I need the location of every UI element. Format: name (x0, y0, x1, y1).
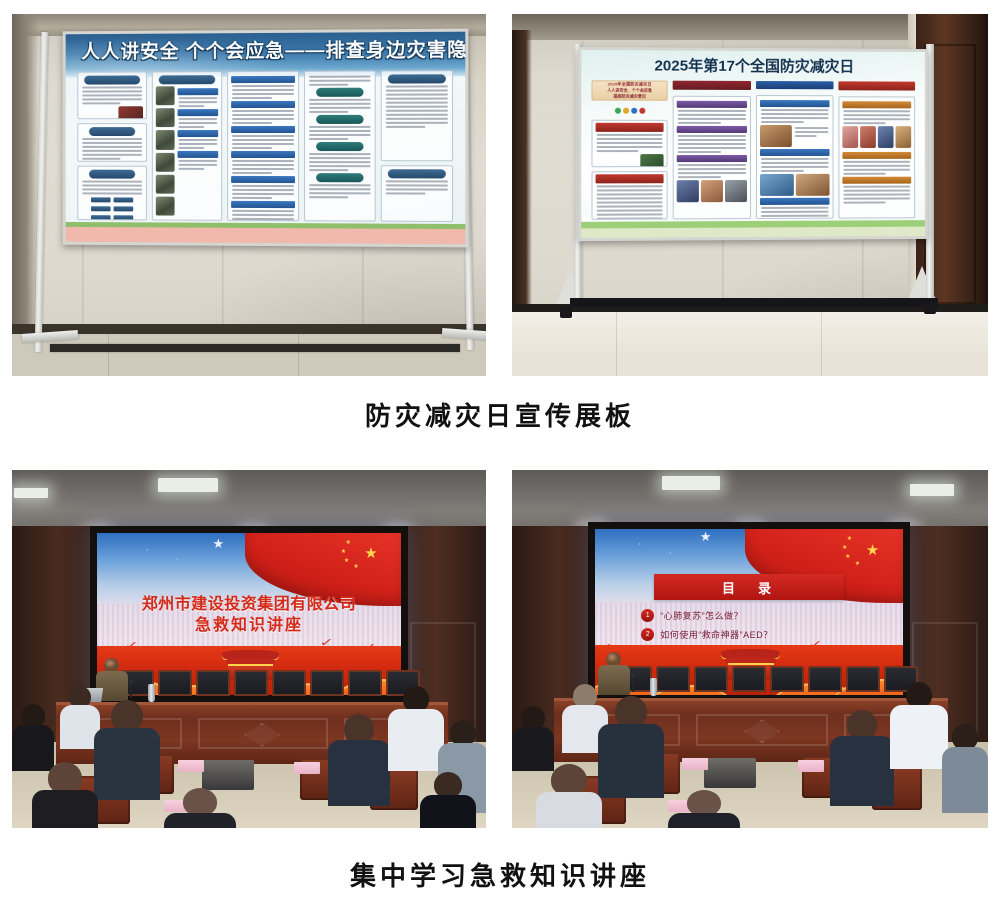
board-panel (77, 123, 147, 162)
conference-room: ★ · · · · ★ ★★★★ 郑州市建设投资集团有限公司 急救知识讲座 ✓ (12, 470, 486, 828)
desk-nameplate (798, 760, 824, 772)
slide-title-block: 郑州市建设投资集团有限公司 急救知识讲座 (109, 595, 389, 636)
photo-lecture-title-slide: ★ · · · · ★ ★★★★ 郑州市建设投资集团有限公司 急救知识讲座 ✓ (12, 470, 486, 828)
board-bottom-decoration (581, 220, 925, 238)
contents-heading-banner: 目 录 (654, 574, 845, 601)
stage-chair (348, 670, 382, 696)
stage-chair (310, 670, 344, 696)
contents-heading: 目 录 (722, 578, 776, 597)
board-panel (381, 165, 454, 222)
wall-pillar (12, 14, 38, 376)
stage-chair (694, 666, 728, 692)
board-panel (152, 71, 222, 221)
audience-member (420, 772, 476, 828)
audience-member (12, 704, 54, 766)
audience-member (598, 696, 664, 794)
board-bottom-decoration (66, 222, 466, 244)
audience-member (830, 710, 894, 802)
stage-chair (732, 666, 766, 692)
audience-member (890, 682, 948, 766)
desk-nameplate (178, 760, 204, 772)
stand-bottom-bar (570, 298, 938, 307)
board-panel (304, 71, 376, 222)
column-header-3 (838, 81, 915, 90)
document-page: 人人讲安全 个个会应急——排查身边灾害隐患 (0, 0, 1000, 912)
audience-member (94, 700, 160, 796)
corridor-shadow (512, 30, 532, 350)
board-2-title: 2025年第17个全国防灾减灾日 (616, 55, 891, 78)
castor-wheel-left (560, 306, 572, 318)
board-1-title: 人人讲安全 个个会应急——排查身边灾害隐患 (81, 36, 449, 68)
stage-chair (846, 666, 880, 692)
figure-1-caption: 防灾减灾日宣传展板 (0, 396, 1000, 433)
board-side-banner: 2025年全国防灾减灾日 人人讲安全、个个会应急 提高防灾减灾意识 (592, 80, 667, 100)
board-panel (228, 71, 299, 221)
audience-member (536, 764, 602, 828)
ceiling-light-panel (910, 484, 954, 496)
photo-display-board-corridor: 2025年第17个全国防灾减灾日 2025年全国防灾减灾日 人人讲安全、个个会应… (512, 14, 988, 376)
board-panel (592, 120, 667, 167)
board-panel (77, 71, 147, 119)
stage-chair (158, 670, 192, 696)
audience-member (328, 714, 390, 802)
audience-member (32, 762, 98, 828)
audience-member (164, 788, 236, 828)
desk-nameplate (682, 758, 708, 770)
board-panel (672, 96, 750, 220)
board-column (756, 81, 833, 219)
board-column (152, 71, 222, 221)
stand-bottom-brace (50, 344, 460, 352)
board-panel (381, 70, 454, 161)
ceiling-light-panel (158, 478, 218, 492)
stage-chair (234, 670, 268, 696)
column-header-2 (756, 81, 833, 89)
figure-2-caption: 集中学习急救知识讲座 (0, 856, 1000, 893)
stage-chair (656, 666, 690, 692)
board-panel (77, 166, 147, 221)
board-column (228, 71, 299, 221)
equipment-case (704, 758, 756, 788)
slide-title-line-1: 郑州市建设投资集团有限公司 (109, 595, 389, 615)
photo-display-board-wall: 人人讲安全 个个会应急——排查身边灾害隐患 (12, 14, 486, 376)
ceiling-light-panel (662, 476, 720, 490)
microphone-icon (632, 676, 634, 692)
conference-room: ★ · · · ★ ★★★★ 目 录 1 “心肺复苏”怎么做？ (512, 470, 988, 828)
stage-chair (272, 670, 306, 696)
board-column (77, 71, 147, 220)
board-2-columns: 2025年全国防灾减灾日 人人讲安全、个个会应急 提高防灾减灾意识 (592, 80, 915, 219)
board-panel (756, 95, 833, 219)
floor (512, 304, 988, 376)
audience-member (512, 706, 554, 766)
water-bottle (650, 678, 657, 696)
decorative-dots-icon (592, 108, 667, 114)
board-column (672, 81, 750, 220)
board-panel (838, 96, 915, 218)
display-board-1: 人人讲安全 个个会应急——排查身边灾害隐患 (63, 29, 469, 248)
castor-wheel-right (924, 302, 936, 314)
stage-chair (196, 670, 230, 696)
audience-member (388, 686, 444, 768)
board-1-columns (77, 70, 453, 222)
board-column (838, 81, 915, 218)
column-header-1 (672, 81, 750, 90)
contents-item-text: “心肺复苏”怎么做？ (660, 609, 743, 622)
contents-item-number: 1 (641, 609, 654, 622)
microphone-icon (130, 682, 132, 698)
board-panel (592, 171, 667, 220)
audience-member (942, 724, 988, 810)
desk-nameplate (294, 762, 320, 774)
side-banner-line-3: 提高防灾减灾意识 (613, 94, 645, 100)
equipment-case (202, 760, 254, 790)
contents-item: 1 “心肺复苏”怎么做？ (641, 609, 869, 622)
board-column (304, 71, 376, 222)
stage-chair (808, 666, 842, 692)
board-column: 2025年全国防灾减灾日 人人讲安全、个个会应急 提高防灾减灾意识 (592, 80, 667, 219)
display-board-2: 2025年第17个全国防灾减灾日 2025年全国防灾减灾日 人人讲安全、个个会应… (578, 47, 928, 241)
board-column (381, 70, 454, 222)
ceiling-light-panel (14, 488, 48, 498)
photo-lecture-contents-slide: ★ · · · ★ ★★★★ 目 录 1 “心肺复苏”怎么做？ (512, 470, 988, 828)
audience-member (668, 790, 740, 828)
stage-chair (770, 666, 804, 692)
